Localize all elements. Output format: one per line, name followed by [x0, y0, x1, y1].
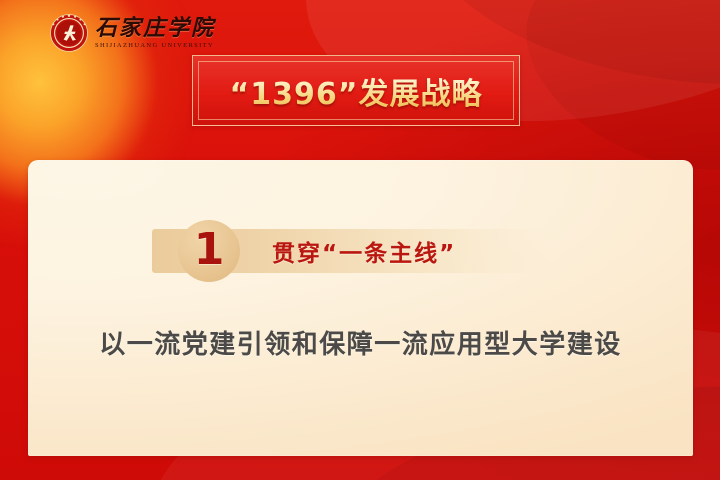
brand-name-en: SHIJIAZHUANG UNIVERSITY [95, 42, 215, 49]
slide-canvas: 石家庄学院 SHIJIAZHUANG UNIVERSITY “1396”发展战略… [0, 0, 720, 480]
university-seal-icon [49, 13, 89, 53]
brand-name-cn: 石家庄学院 [95, 17, 215, 40]
item-number-label: 1 [194, 228, 225, 272]
card-heading: 贯穿“一条主线” [272, 232, 456, 270]
card-statement: 以一流党建引领和保障一流应用型大学建设 [28, 324, 693, 361]
content-card: 1 贯穿“一条主线” 以一流党建引领和保障一流应用型大学建设 [28, 160, 693, 456]
slide-title: “1396”发展战略 [193, 56, 519, 125]
slide-title-plaque: “1396”发展战略 [192, 55, 520, 126]
brand-logo: 石家庄学院 SHIJIAZHUANG UNIVERSITY [49, 11, 215, 55]
card-heading-row: 1 贯穿“一条主线” [28, 220, 693, 282]
item-number-badge: 1 [178, 220, 240, 282]
